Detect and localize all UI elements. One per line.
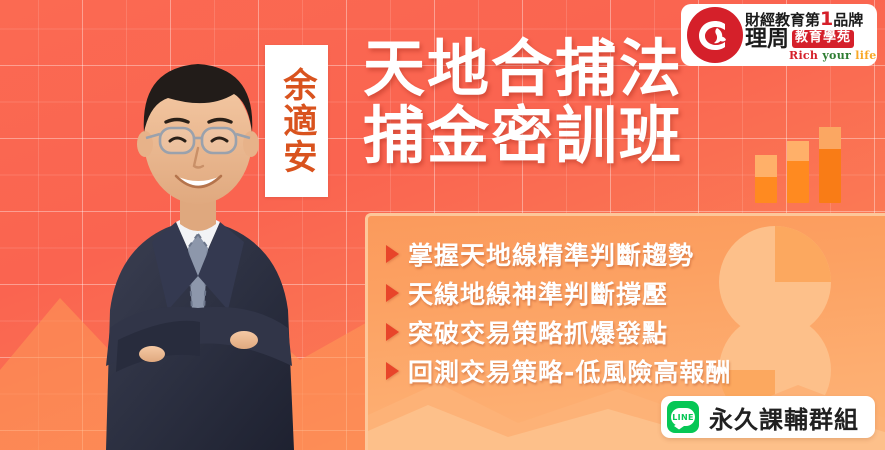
list-item: 掌握天地線精準判斷趨勢 (386, 234, 875, 273)
logo-slogan: Rich your life (789, 49, 877, 62)
feature-list: 掌握天地線精準判斷趨勢 天線地線神準判斷撐壓 突破交易策略抓爆發點 回測交易策略… (386, 234, 875, 390)
list-item: 天線地線神準判斷撐壓 (386, 273, 875, 312)
headline-line-2: 捕金密訓班 (363, 105, 683, 166)
feature-text: 回測交易策略-低風險高報酬 (408, 353, 731, 389)
deco-bar-3 (819, 127, 841, 203)
logo-rank-number: 1 (820, 8, 833, 30)
feature-text: 掌握天地線精準判斷趨勢 (408, 236, 694, 272)
line-group-button[interactable]: LINE 永久課輔群組 (661, 396, 875, 438)
triangle-right-icon (386, 284, 399, 302)
triangle-right-icon (386, 245, 399, 263)
triangle-right-icon (386, 323, 399, 341)
page-title: 天地合捕法 捕金密訓班 (363, 38, 683, 167)
deco-bar-1 (755, 155, 777, 203)
features-panel: 掌握天地線精準判斷趨勢 天線地線神準判斷撐壓 突破交易策略抓爆發點 回測交易策略… (365, 213, 885, 450)
list-item: 突破交易策略抓爆發點 (386, 312, 875, 351)
logo-slogan-word-1: Rich (789, 49, 818, 62)
logo-tagline-suffix: 品牌 (833, 11, 863, 29)
logo-academy-name: 教育學苑 (792, 30, 854, 47)
logo-slogan-word-3: life (855, 49, 876, 62)
line-app-icon: LINE (667, 401, 699, 433)
headline-line-1: 天地合捕法 (363, 38, 683, 99)
heart-flame-logo-icon (687, 7, 743, 63)
feature-text: 天線地線神準判斷撐壓 (408, 275, 668, 311)
speaker-name: 余適安 (278, 67, 315, 175)
speaker-name-plate: 余適安 (265, 45, 328, 197)
promo-banner: 余適安 天地合捕法 捕金密訓班 財經教育第1品牌 理周 教育學苑 Rich (0, 0, 885, 450)
logo-brand-row: 理周 教育學苑 (745, 28, 854, 50)
brand-logo[interactable]: 財經教育第1品牌 理周 教育學苑 Rich your life (681, 4, 877, 66)
logo-brand-name: 理周 (745, 28, 789, 50)
line-icon-text: LINE (672, 413, 693, 422)
logo-slogan-word-2: your (822, 49, 851, 62)
bar-chart-decoration (755, 128, 850, 203)
triangle-right-icon (386, 362, 399, 380)
deco-bar-2 (787, 141, 809, 203)
line-button-label: 永久課輔群組 (709, 400, 859, 435)
list-item: 回測交易策略-低風險高報酬 (386, 351, 875, 390)
feature-text: 突破交易策略抓爆發點 (408, 314, 668, 350)
